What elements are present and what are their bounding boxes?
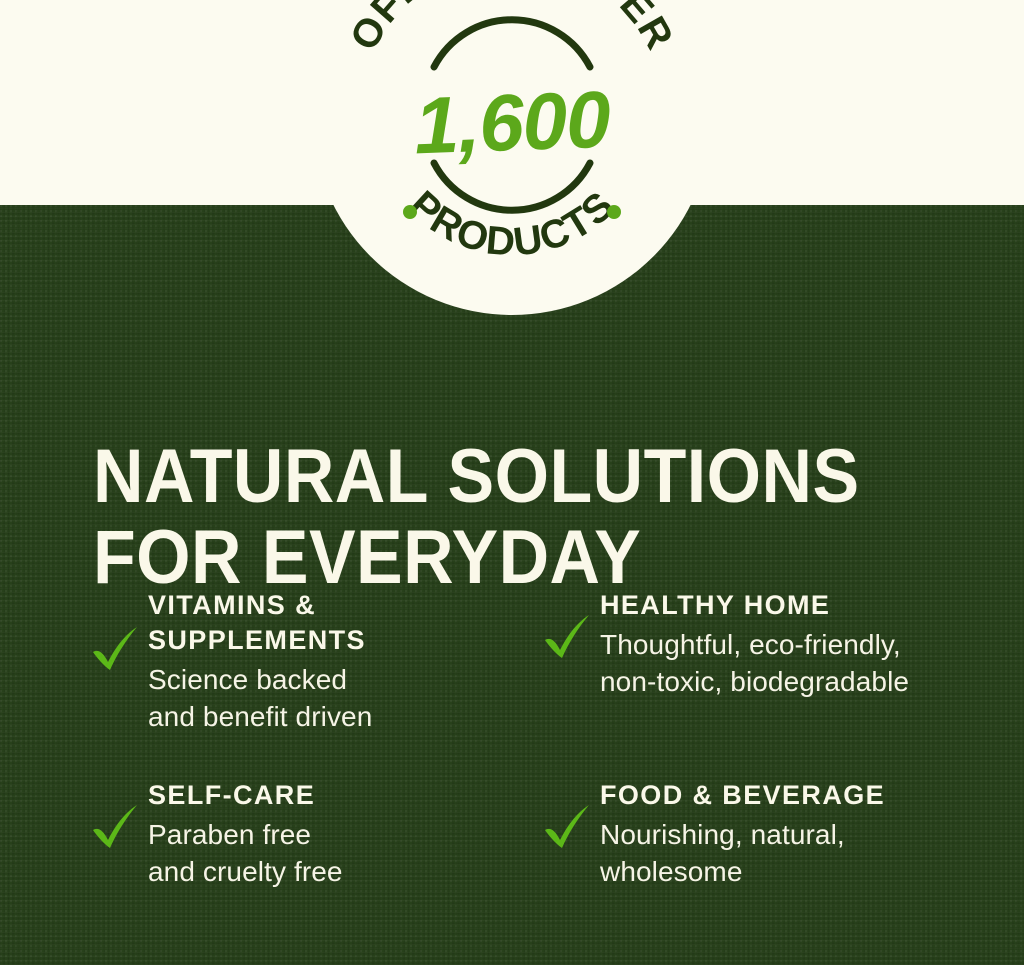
feature-item-vitamins-supplements: VITAMINS & SUPPLEMENTS Science backed an… <box>88 588 540 736</box>
badge-arc-top-text: OFFERING OVER <box>342 0 682 58</box>
checkmark-icon <box>88 800 142 854</box>
feature-item-healthy-home: HEALTHY HOME Thoughtful, eco-friendly, n… <box>540 588 988 736</box>
badge-dot-right <box>607 205 621 219</box>
feature-text: VITAMINS & SUPPLEMENTS Science backed an… <box>148 588 372 736</box>
feature-description: Paraben free and cruelty free <box>148 816 343 890</box>
feature-title: HEALTHY HOME <box>600 588 909 623</box>
badge-decorative-arc-bottom <box>434 163 590 210</box>
feature-description: Science backed and benefit driven <box>148 661 372 735</box>
badge-arc-top-textpath: OFFERING OVER <box>342 0 682 58</box>
feature-text: FOOD & BEVERAGE Nourishing, natural, who… <box>600 778 885 891</box>
feature-item-self-care: SELF-CARE Paraben free and cruelty free <box>88 778 540 891</box>
feature-list: VITAMINS & SUPPLEMENTS Science backed an… <box>88 588 988 890</box>
badge-arc-bottom-textpath: PRODUCTS <box>401 183 624 265</box>
feature-text: HEALTHY HOME Thoughtful, eco-friendly, n… <box>600 588 909 701</box>
badge-dot-left <box>403 205 417 219</box>
badge-decorative-arc-top <box>434 20 590 67</box>
promo-banner: OFFERING OVER PRODUCTS 1,600 NATURAL SOL… <box>0 0 1024 965</box>
badge-arc-bottom-text: PRODUCTS <box>401 183 624 265</box>
feature-item-food-beverage: FOOD & BEVERAGE Nourishing, natural, who… <box>540 778 988 891</box>
badge-product-count: 1,600 <box>311 76 714 170</box>
checkmark-icon <box>540 800 594 854</box>
product-count-badge: OFFERING OVER PRODUCTS 1,600 <box>312 0 712 315</box>
feature-title: FOOD & BEVERAGE <box>600 778 885 813</box>
feature-title: VITAMINS & SUPPLEMENTS <box>148 588 372 658</box>
feature-title: SELF-CARE <box>148 778 343 813</box>
page-title: NATURAL SOLUTIONS FOR EVERYDAY <box>93 436 860 599</box>
checkmark-icon <box>88 622 142 676</box>
feature-description: Nourishing, natural, wholesome <box>600 816 885 890</box>
checkmark-icon <box>540 610 594 664</box>
feature-text: SELF-CARE Paraben free and cruelty free <box>148 778 343 891</box>
feature-description: Thoughtful, eco-friendly, non-toxic, bio… <box>600 626 909 700</box>
